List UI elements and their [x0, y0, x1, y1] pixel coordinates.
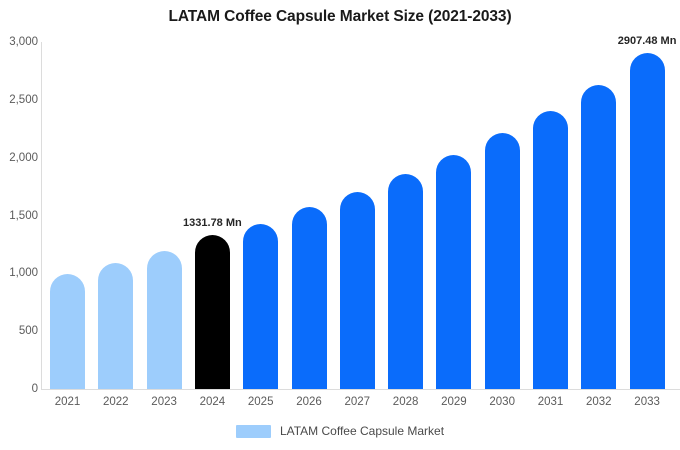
bar-rect-2033[interactable]	[630, 53, 665, 389]
y-axis-tick-label: 1,500	[2, 210, 38, 222]
bar-2031[interactable]	[533, 42, 568, 389]
bar-rect-2028[interactable]	[388, 174, 423, 389]
bar-2033[interactable]	[630, 42, 665, 389]
bar-rect-2026[interactable]	[292, 207, 327, 389]
bar-rect-2022[interactable]	[98, 263, 133, 389]
chart-title: LATAM Coffee Capsule Market Size (2021-2…	[0, 8, 680, 26]
y-axis: 05001,0001,5002,0002,5003,000	[0, 0, 38, 450]
chart-legend[interactable]: LATAM Coffee Capsule Market	[0, 424, 680, 438]
plot-area	[41, 42, 680, 389]
data-label-2024: 1331.78 Mn	[183, 217, 242, 229]
bar-rect-2029[interactable]	[436, 155, 471, 389]
bar-rect-2021[interactable]	[50, 274, 85, 389]
bar-2025[interactable]	[243, 42, 278, 389]
bar-chart: LATAM Coffee Capsule Market Size (2021-2…	[0, 0, 680, 450]
x-axis-line	[41, 389, 680, 390]
data-label-2033: 2907.48 Mn	[618, 35, 677, 47]
bar-2022[interactable]	[98, 42, 133, 389]
y-axis-tick-label: 2,000	[2, 152, 38, 164]
bar-rect-2023[interactable]	[147, 251, 182, 389]
x-axis-tick-label-2033: 2033	[617, 396, 677, 408]
bar-2024[interactable]	[195, 42, 230, 389]
y-axis-tick-label: 2,500	[2, 94, 38, 106]
bar-2026[interactable]	[292, 42, 327, 389]
legend-label: LATAM Coffee Capsule Market	[280, 424, 444, 438]
bar-rect-2031[interactable]	[533, 111, 568, 389]
bar-rect-2024[interactable]	[195, 235, 230, 389]
bar-rect-2032[interactable]	[581, 85, 616, 389]
legend-swatch-latam-coffee-capsule-market	[236, 425, 271, 438]
y-axis-tick-label: 500	[2, 325, 38, 337]
bar-2021[interactable]	[50, 42, 85, 389]
bar-2030[interactable]	[485, 42, 520, 389]
y-axis-tick-label: 1,000	[2, 267, 38, 279]
bar-rect-2030[interactable]	[485, 133, 520, 389]
bar-2027[interactable]	[340, 42, 375, 389]
bar-rect-2025[interactable]	[243, 224, 278, 389]
y-axis-tick-label: 0	[2, 383, 38, 395]
bar-2023[interactable]	[147, 42, 182, 389]
bar-2029[interactable]	[436, 42, 471, 389]
y-axis-tick-label: 3,000	[2, 36, 38, 48]
bar-2028[interactable]	[388, 42, 423, 389]
bar-2032[interactable]	[581, 42, 616, 389]
bar-rect-2027[interactable]	[340, 192, 375, 389]
